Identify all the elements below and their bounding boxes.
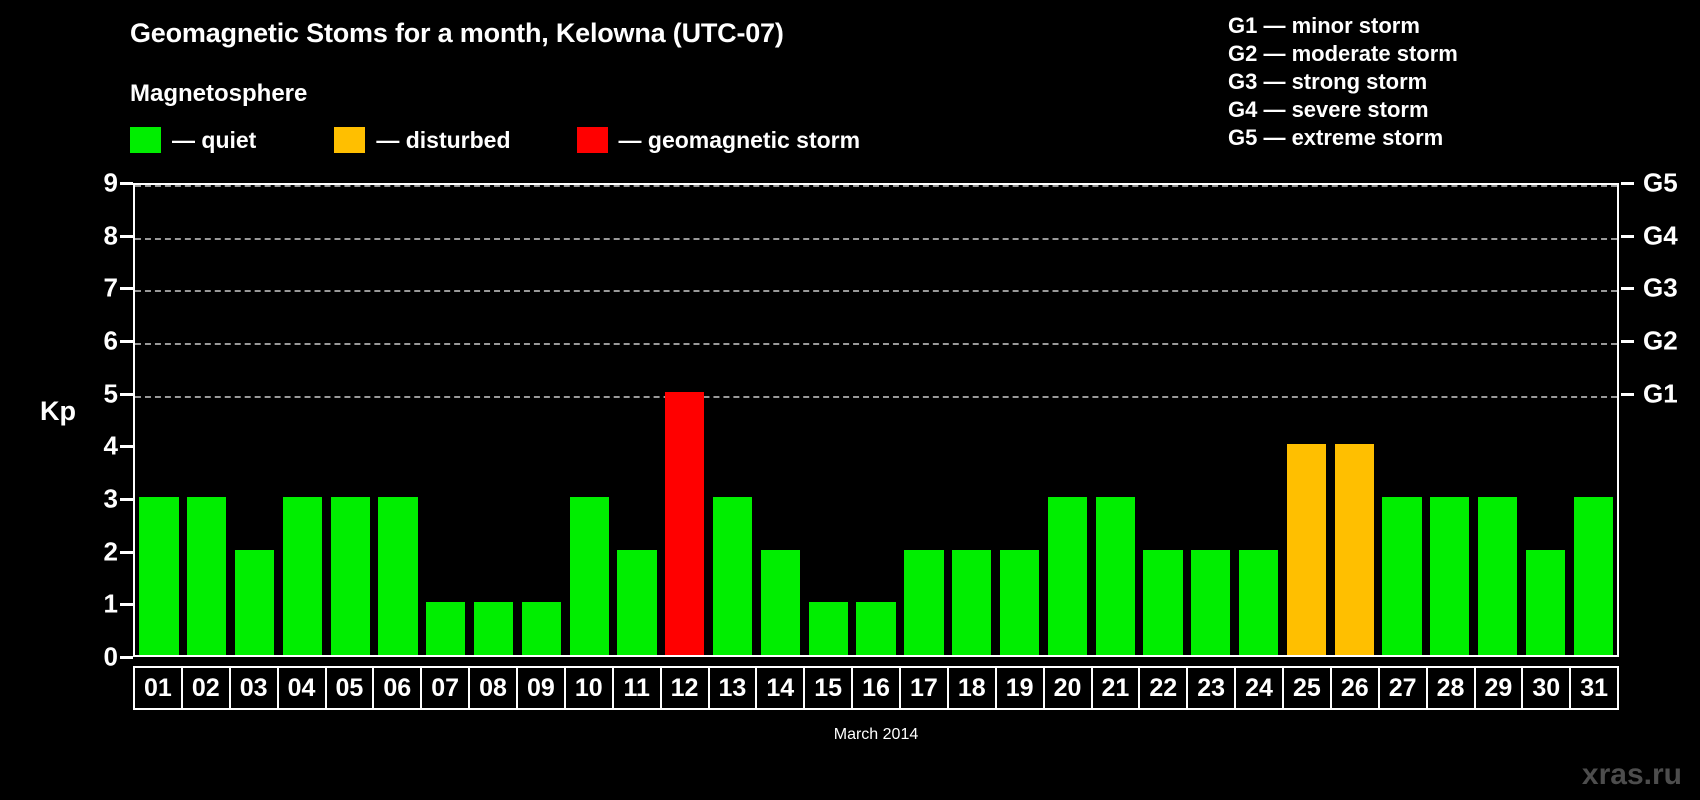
bar bbox=[617, 550, 656, 655]
day-label-cell: 24 bbox=[1234, 668, 1282, 708]
legend-item: — quiet bbox=[130, 127, 256, 154]
bar-slot bbox=[565, 185, 613, 655]
bar-slot bbox=[326, 185, 374, 655]
bar bbox=[474, 602, 513, 655]
bar-slot bbox=[852, 185, 900, 655]
bar bbox=[761, 550, 800, 655]
day-label-cell: 10 bbox=[564, 668, 612, 708]
day-label-cell: 01 bbox=[133, 668, 181, 708]
g-axis-label: G4 bbox=[1643, 220, 1678, 251]
bar-slot bbox=[518, 185, 566, 655]
y-axis-label: 5 bbox=[78, 378, 118, 409]
day-label-cell: 02 bbox=[181, 668, 229, 708]
bar bbox=[856, 602, 895, 655]
g-scale-row: G1 — minor storm bbox=[1228, 12, 1458, 40]
green-square-swatch bbox=[130, 127, 161, 153]
day-label-cell: 03 bbox=[229, 668, 277, 708]
bar-slot bbox=[1569, 185, 1617, 655]
bar bbox=[1000, 550, 1039, 655]
bar-slot bbox=[757, 185, 805, 655]
day-label-cell: 05 bbox=[325, 668, 373, 708]
x-axis-day-labels: 0102030405060708091011121314151617181920… bbox=[133, 666, 1619, 710]
day-label-cell: 23 bbox=[1186, 668, 1234, 708]
day-label-cell: 29 bbox=[1474, 668, 1522, 708]
y-axis-label: 1 bbox=[78, 589, 118, 620]
bar bbox=[1191, 550, 1230, 655]
plot-inner bbox=[135, 185, 1617, 655]
y-axis-label: 3 bbox=[78, 484, 118, 515]
bar-slot bbox=[709, 185, 757, 655]
bar-slot bbox=[996, 185, 1044, 655]
y-axis-tick bbox=[120, 498, 133, 501]
bar bbox=[1382, 497, 1421, 655]
bar-slot bbox=[948, 185, 996, 655]
legend-item-label: — quiet bbox=[172, 127, 256, 154]
bar-slot bbox=[1139, 185, 1187, 655]
bar-slot bbox=[1378, 185, 1426, 655]
bar bbox=[1096, 497, 1135, 655]
red-square-swatch bbox=[577, 127, 608, 153]
bar bbox=[522, 602, 561, 655]
y-axis-tick bbox=[120, 656, 133, 659]
y-axis-tick bbox=[120, 340, 133, 343]
g-axis-tick bbox=[1621, 235, 1634, 238]
y-axis-tick bbox=[120, 287, 133, 290]
g-scale-row: G3 — strong storm bbox=[1228, 68, 1458, 96]
y-axis-tick bbox=[120, 393, 133, 396]
day-label-cell: 22 bbox=[1138, 668, 1186, 708]
g-axis-tick bbox=[1621, 340, 1634, 343]
bar bbox=[235, 550, 274, 655]
g-axis-label: G1 bbox=[1643, 378, 1678, 409]
bar-slot bbox=[1522, 185, 1570, 655]
y-axis-label: 7 bbox=[78, 273, 118, 304]
legend-item-label: — disturbed bbox=[376, 127, 510, 154]
g-scale-legend: G1 — minor stormG2 — moderate stormG3 — … bbox=[1228, 12, 1458, 152]
day-label-cell: 18 bbox=[947, 668, 995, 708]
g-axis-label: G3 bbox=[1643, 273, 1678, 304]
g-axis-tick bbox=[1621, 182, 1634, 185]
day-label-cell: 30 bbox=[1521, 668, 1569, 708]
y-axis-tick bbox=[120, 235, 133, 238]
g-scale-row: G5 — extreme storm bbox=[1228, 124, 1458, 152]
legend-heading: Magnetosphere bbox=[130, 80, 307, 108]
day-label-cell: 19 bbox=[995, 668, 1043, 708]
bar-slot bbox=[804, 185, 852, 655]
watermark: xras.ru bbox=[1582, 758, 1682, 792]
bar-slot bbox=[1043, 185, 1091, 655]
bar bbox=[1143, 550, 1182, 655]
y-axis-tick bbox=[120, 445, 133, 448]
day-label-cell: 13 bbox=[708, 668, 756, 708]
bar bbox=[809, 602, 848, 655]
y-axis-label: 8 bbox=[78, 220, 118, 251]
g-scale-row: G2 — moderate storm bbox=[1228, 40, 1458, 68]
bar-slot bbox=[1091, 185, 1139, 655]
legend-item-label: — geomagnetic storm bbox=[619, 127, 861, 154]
bar-slot bbox=[422, 185, 470, 655]
day-label-cell: 07 bbox=[420, 668, 468, 708]
day-label-cell: 26 bbox=[1330, 668, 1378, 708]
x-axis-title: March 2014 bbox=[834, 726, 919, 743]
bar bbox=[904, 550, 943, 655]
bar-slot bbox=[183, 185, 231, 655]
g-scale-row: G4 — severe storm bbox=[1228, 96, 1458, 124]
day-label-cell: 09 bbox=[516, 668, 564, 708]
y-axis-label: 0 bbox=[78, 642, 118, 673]
bar bbox=[1287, 444, 1326, 655]
day-label-cell: 27 bbox=[1378, 668, 1426, 708]
bar bbox=[1526, 550, 1565, 655]
bar-series bbox=[135, 185, 1617, 655]
bar bbox=[1478, 497, 1517, 655]
y-axis-tick bbox=[120, 551, 133, 554]
day-label-cell: 12 bbox=[660, 668, 708, 708]
bar bbox=[187, 497, 226, 655]
legend: — quiet— disturbed— geomagnetic storm bbox=[130, 126, 860, 154]
bar bbox=[1048, 497, 1087, 655]
y-axis-tick bbox=[120, 603, 133, 606]
bar bbox=[331, 497, 370, 655]
day-label-cell: 21 bbox=[1091, 668, 1139, 708]
bar-slot bbox=[231, 185, 279, 655]
bar bbox=[378, 497, 417, 655]
g-axis-label: G5 bbox=[1643, 168, 1678, 199]
y-axis-tick bbox=[120, 182, 133, 185]
bar bbox=[570, 497, 609, 655]
y-axis-label: 4 bbox=[78, 431, 118, 462]
x-axis-title-wrap: March 2014 bbox=[133, 726, 1619, 744]
legend-item: — geomagnetic storm bbox=[577, 127, 861, 154]
day-label-cell: 25 bbox=[1282, 668, 1330, 708]
day-label-cell: 04 bbox=[277, 668, 325, 708]
bar-slot bbox=[374, 185, 422, 655]
bar bbox=[665, 392, 704, 655]
day-label-cell: 15 bbox=[803, 668, 851, 708]
bar bbox=[713, 497, 752, 655]
g-axis-tick bbox=[1621, 287, 1634, 290]
bar bbox=[952, 550, 991, 655]
bar-slot bbox=[1426, 185, 1474, 655]
g-axis-label: G2 bbox=[1643, 326, 1678, 357]
orange-square-swatch bbox=[334, 127, 365, 153]
day-label-cell: 16 bbox=[851, 668, 899, 708]
bar-slot bbox=[470, 185, 518, 655]
bar bbox=[1430, 497, 1469, 655]
bar-slot bbox=[900, 185, 948, 655]
y-axis-label: 9 bbox=[78, 168, 118, 199]
bar bbox=[1574, 497, 1613, 655]
bar bbox=[1239, 550, 1278, 655]
legend-item: — disturbed bbox=[334, 127, 510, 154]
plot-area bbox=[133, 183, 1619, 657]
bar-slot bbox=[1330, 185, 1378, 655]
g-axis-tick bbox=[1621, 393, 1634, 396]
bar-slot bbox=[661, 185, 709, 655]
day-label-cell: 06 bbox=[372, 668, 420, 708]
day-label-cell: 20 bbox=[1043, 668, 1091, 708]
page-title: Geomagnetic Stoms for a month, Kelowna (… bbox=[130, 18, 784, 49]
day-label-cell: 08 bbox=[468, 668, 516, 708]
bar bbox=[426, 602, 465, 655]
bar-slot bbox=[1187, 185, 1235, 655]
bar-slot bbox=[1235, 185, 1283, 655]
y-axis-label: 6 bbox=[78, 326, 118, 357]
bar-slot bbox=[1474, 185, 1522, 655]
y-axis-title: Kp bbox=[40, 396, 76, 427]
day-label-cell: 11 bbox=[612, 668, 660, 708]
bar bbox=[283, 497, 322, 655]
day-label-cell: 14 bbox=[755, 668, 803, 708]
bar-slot bbox=[135, 185, 183, 655]
bar bbox=[139, 497, 178, 655]
day-label-cell: 31 bbox=[1569, 668, 1619, 708]
day-label-cell: 17 bbox=[899, 668, 947, 708]
bar-slot bbox=[278, 185, 326, 655]
bar-slot bbox=[613, 185, 661, 655]
y-axis-label: 2 bbox=[78, 536, 118, 567]
bar bbox=[1335, 444, 1374, 655]
day-label-cell: 28 bbox=[1426, 668, 1474, 708]
bar-slot bbox=[1283, 185, 1331, 655]
